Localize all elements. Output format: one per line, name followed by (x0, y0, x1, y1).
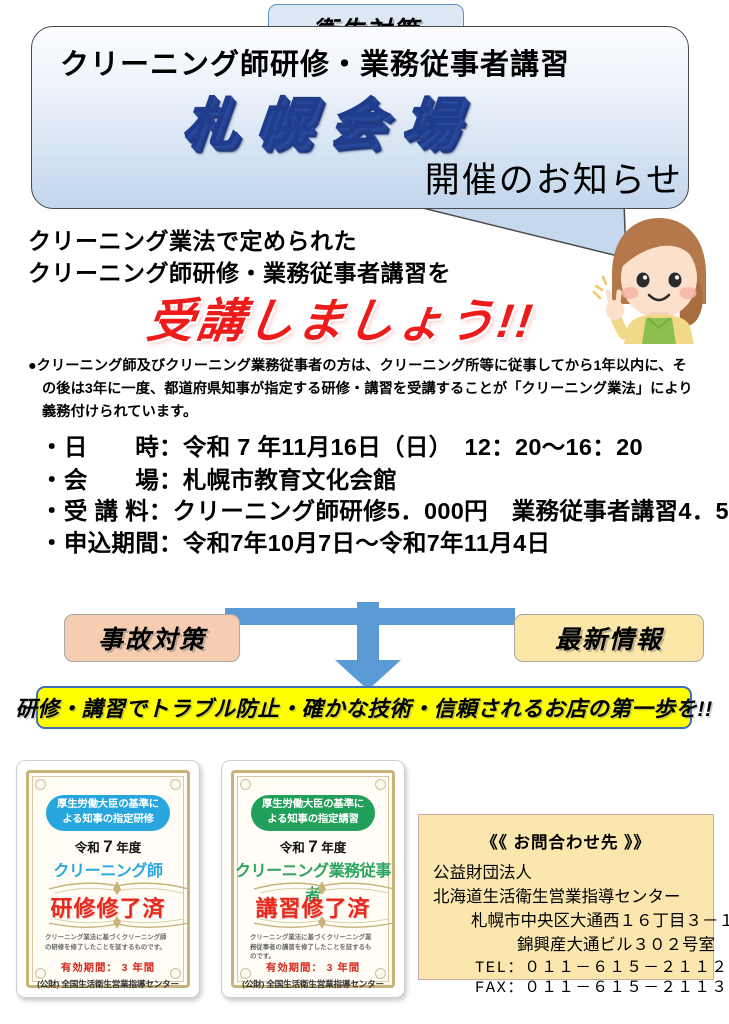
contact-telephone: TEL：０１１－６１５－２１１２ (475, 955, 728, 977)
highlight-banner-label: 研修・講習でトラブル防止・確かな技術・信頼されるお店の第一歩を!! (15, 692, 712, 723)
contact-fax: FAX：０１１－６１５－２１１３ (475, 975, 728, 997)
detail-row-venue: ・会 場：札幌市教育文化会館 (40, 461, 397, 495)
screw-icon (375, 779, 386, 790)
certificate-badge: 厚生労働大臣の基準に よる知事の指定講習 (251, 795, 375, 831)
detail-value: 札幌市教育文化会館 (183, 461, 397, 495)
legal-line-1: クリーニング師及びクリーニング業務従事者の方は、クリーニング所等に従事してから1… (37, 358, 687, 374)
certificate-year: 令和 7 年度 (234, 837, 392, 857)
screw-icon (35, 779, 46, 790)
intro-line-1: クリーニング業法で定められた (28, 222, 357, 256)
certificate-plaque-worker: 厚生労働大臣の基準に よる知事の指定講習 令和 7 年度 クリーニング業務従事者… (221, 760, 405, 998)
screw-icon (170, 779, 181, 790)
certificate-year: 令和 7 年度 (29, 837, 187, 857)
highlight-banner: 研修・講習でトラブル防止・確かな技術・信頼されるお店の第一歩を!! (36, 686, 692, 729)
certificate-validity: 有効期間： 3 年間 (29, 959, 187, 974)
certificate-description: クリーニング業法に基づくクリーニング師の研修を修了したことを証するものです。 (45, 933, 171, 952)
contact-address-line-1: 札幌市中央区大通西１６丁目３－１２ (471, 907, 729, 931)
mascot-illustration-icon (588, 212, 729, 344)
certificate-frame: 厚生労働大臣の基準に よる知事の指定講習 令和 7 年度 クリーニング業務従事者… (231, 770, 395, 988)
legal-bullet: ● (28, 358, 37, 374)
header-subtitle: クリーニング師研修・業務従事者講習 (60, 41, 660, 83)
detail-marker: ・ (40, 428, 64, 462)
certificate-badge-line-2: よる知事の指定研修 (62, 814, 153, 825)
detail-row-fee: ・受 講 料：クリーニング師研修5．000円 業務従事者講習4．500円 (40, 492, 729, 526)
contact-org-type: 公益財団法人 (433, 859, 532, 883)
certificate-plaque-cleaner: 厚生労働大臣の基準に よる知事の指定研修 令和 7 年度 クリーニング師 研修修… (16, 760, 200, 998)
detail-label: 日 時： (64, 428, 183, 462)
legal-line-3: 義務付けられています。 (28, 401, 706, 424)
certificate-status: 研修修了済 (29, 891, 187, 923)
certificate-badge: 厚生労働大臣の基準に よる知事の指定研修 (46, 795, 170, 831)
year-suffix: 年度 (116, 841, 141, 855)
flow-box-latest-label: 最新情報 (555, 620, 663, 656)
certificate-description: クリーニング業法に基づくクリーニング業務従事者の講習を修了したことを証するもので… (250, 933, 376, 962)
screw-icon (240, 779, 251, 790)
certificate-badge-line-1: 厚生労働大臣の基準に (57, 799, 159, 810)
year-prefix: 令和 (280, 841, 305, 855)
header-city-title: 札幌会場 (0, 78, 662, 158)
detail-label: 受 講 料： (64, 492, 173, 526)
certificate-validity: 有効期間： 3 年間 (234, 959, 392, 974)
detail-label: 会 場： (64, 461, 183, 495)
year-prefix: 令和 (75, 841, 100, 855)
contact-title: 《《 お問合わせ先 》》 (419, 829, 713, 853)
certificate-status: 講習修了済 (234, 891, 392, 923)
detail-row-datetime: ・日 時：令和 7 年11月16日（日） 12：20〜16：20 (40, 428, 643, 462)
legal-requirement-paragraph: ●クリーニング師及びクリーニング業務従事者の方は、クリーニング所等に従事してから… (28, 355, 706, 424)
flow-box-accident-label: 事故対策 (98, 620, 206, 656)
year-number: 7 (308, 837, 317, 856)
certificate-category: クリーニング師 (29, 857, 187, 881)
year-number: 7 (103, 837, 112, 856)
detail-marker: ・ (40, 461, 64, 495)
contact-org-name: 北海道生活衛生営業指導センター (433, 883, 681, 907)
detail-marker: ・ (40, 492, 64, 526)
flow-box-accident: 事故対策 (64, 614, 240, 662)
certificate-badge-line-2: よる知事の指定講習 (267, 814, 358, 825)
contact-info-box: 《《 お問合わせ先 》》 公益財団法人 北海道生活衛生営業指導センター 札幌市中… (418, 814, 714, 980)
legal-line-2: の後は3年に一度、都道府県知事が指定する研修・講習を受講することが「クリーニング… (28, 378, 706, 401)
header-notice-label: 開催のお知らせ (425, 152, 683, 203)
certificate-frame: 厚生労働大臣の基準に よる知事の指定研修 令和 7 年度 クリーニング師 研修修… (26, 770, 190, 988)
year-suffix: 年度 (321, 841, 346, 855)
detail-value: クリーニング師研修5．000円 業務従事者講習4．500円 (173, 492, 729, 526)
contact-address-line-2: 錦興産大通ビル３０２号室 (517, 931, 715, 955)
certificate-issuer: (公財) 全国生活衛生営業指導センター (234, 978, 392, 990)
flow-box-latest-info: 最新情報 (514, 614, 704, 662)
certificate-badge-line-1: 厚生労働大臣の基準に (262, 799, 364, 810)
certificate-issuer: (公財) 全国生活衛生営業指導センター (29, 978, 187, 990)
intro-call-to-action: 受講しましょう!! (143, 282, 540, 351)
detail-value: 令和 7 年11月16日（日） 12：20〜16：20 (183, 428, 643, 462)
